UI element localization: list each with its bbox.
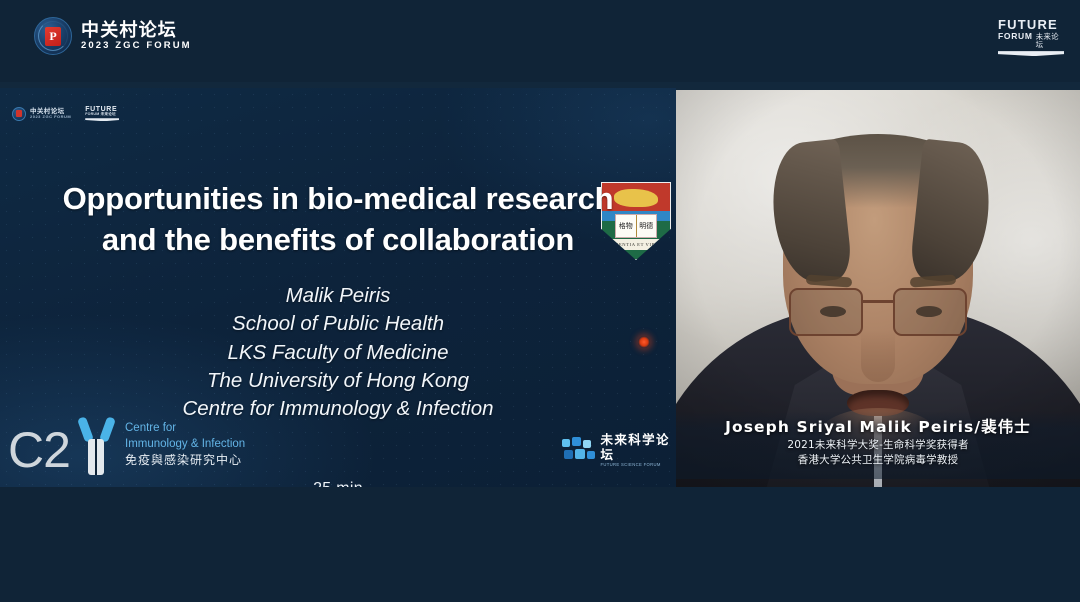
zgc-ring-icon bbox=[38, 21, 68, 51]
speaker-video-tile[interactable]: Joseph Sriyal Malik Peiris/裴伟士 2021未来科学大… bbox=[676, 90, 1080, 487]
fsf-chinese-name: 未来科学论坛 bbox=[600, 433, 676, 462]
slide-zgc-words: 中关村论坛 2023 ZGC FORUM bbox=[30, 108, 71, 120]
zgc-english-name: 2023 ZGC FORUM bbox=[81, 41, 192, 51]
slide-title-line-2: and the benefits of collaboration bbox=[18, 219, 658, 260]
slide-zgc-mark-icon bbox=[12, 107, 26, 121]
eyeglasses-lens-left bbox=[789, 288, 863, 336]
speaker-title-line: 香港大学公共卫生学院病毒学教授 bbox=[676, 453, 1080, 469]
affiliation-line: School of Public Health bbox=[0, 310, 676, 338]
c2i-glyph-icon: C2 bbox=[8, 415, 116, 479]
antibody-stem bbox=[88, 439, 104, 475]
future-forum-underline-icon bbox=[998, 51, 1064, 56]
slide-ff-underline-icon bbox=[85, 118, 119, 121]
c2i-en-line1: Centre for bbox=[125, 421, 245, 436]
eyeglasses-bridge bbox=[863, 300, 893, 303]
slide-ff-line2: FORUM 未来论坛 bbox=[85, 113, 119, 117]
fsf-block bbox=[583, 440, 591, 448]
speaker-nose bbox=[861, 330, 895, 382]
future-forum-line2-row: FORUM 未来论坛 bbox=[998, 32, 1064, 50]
slide-title-line-1: Opportunities in bio-medical research bbox=[18, 178, 658, 219]
future-forum-chinese: 未来论坛 bbox=[1036, 33, 1064, 50]
zgc-wordmark: 中关村论坛 2023 ZGC FORUM bbox=[81, 21, 192, 51]
speaker-caption: Joseph Sriyal Malik Peiris/裴伟士 2021未来科学大… bbox=[676, 411, 1080, 479]
presentation-slide[interactable]: 中关村论坛 2023 ZGC FORUM FUTURE FORUM 未来论坛 格… bbox=[0, 88, 676, 487]
c2i-en-line2: Immunology & Infection bbox=[125, 437, 245, 452]
c2i-wordmark: C2 bbox=[8, 425, 70, 475]
slide-corner-logos: 中关村论坛 2023 ZGC FORUM FUTURE FORUM 未来论坛 bbox=[12, 106, 119, 121]
affiliation-line: The University of Hong Kong bbox=[0, 367, 676, 395]
talk-duration-label: 25 min bbox=[0, 480, 676, 487]
fsf-blocks-icon bbox=[560, 437, 594, 463]
future-science-forum-logo: 未来科学论坛 FUTURE SCIENCE FORUM bbox=[560, 433, 676, 467]
bottom-bar bbox=[0, 487, 1080, 602]
fsf-english-name: FUTURE SCIENCE FORUM bbox=[600, 462, 676, 467]
slide-zgc-logo: 中关村论坛 2023 ZGC FORUM bbox=[12, 107, 71, 121]
fsf-wordmark: 未来科学论坛 FUTURE SCIENCE FORUM bbox=[600, 433, 676, 467]
affiliation-line: Malik Peiris bbox=[0, 282, 676, 310]
zgc-chinese-name: 中关村论坛 bbox=[81, 21, 192, 40]
fsf-block bbox=[575, 449, 585, 459]
slide-future-forum-logo: FUTURE FORUM 未来论坛 bbox=[85, 106, 119, 121]
future-forum-line1: FUTURE bbox=[998, 18, 1064, 32]
slide-affiliation-block: Malik Peiris School of Public Health LKS… bbox=[0, 282, 676, 423]
zgc-p-mark-icon: P bbox=[34, 17, 72, 55]
c2i-logo: C2 Centre for Immunology & Infection 免疫與… bbox=[8, 415, 245, 479]
webinar-screen: P 中关村论坛 2023 ZGC FORUM FUTURE FORUM 未来论坛 bbox=[0, 0, 1080, 602]
eyeglasses-lens-right bbox=[893, 288, 967, 336]
slide-title: Opportunities in bio-medical research an… bbox=[0, 178, 676, 260]
future-forum-logo: FUTURE FORUM 未来论坛 bbox=[998, 18, 1064, 56]
fsf-block bbox=[587, 451, 595, 459]
speaker-name: Joseph Sriyal Malik Peiris/裴伟士 bbox=[676, 417, 1080, 437]
antibody-icon bbox=[78, 417, 118, 477]
slide-zgc-english: 2023 ZGC FORUM bbox=[30, 115, 71, 119]
slide-zgc-chip-icon bbox=[16, 110, 22, 117]
fsf-block bbox=[562, 439, 570, 447]
fsf-block bbox=[572, 437, 581, 446]
c2i-chinese-name: 免疫與感染研究中心 bbox=[125, 452, 245, 469]
future-forum-line2: FORUM bbox=[998, 32, 1033, 41]
top-bar: P 中关村论坛 2023 ZGC FORUM FUTURE FORUM 未来论坛 bbox=[0, 0, 1080, 82]
c2i-text-block: Centre for Immunology & Infection 免疫與感染研… bbox=[125, 421, 245, 472]
fsf-block bbox=[564, 450, 573, 459]
zgc-forum-logo: P 中关村论坛 2023 ZGC FORUM bbox=[34, 17, 192, 55]
affiliation-line: LKS Faculty of Medicine bbox=[0, 339, 676, 367]
speaker-award-line: 2021未来科学大奖-生命科学奖获得者 bbox=[676, 438, 1080, 454]
